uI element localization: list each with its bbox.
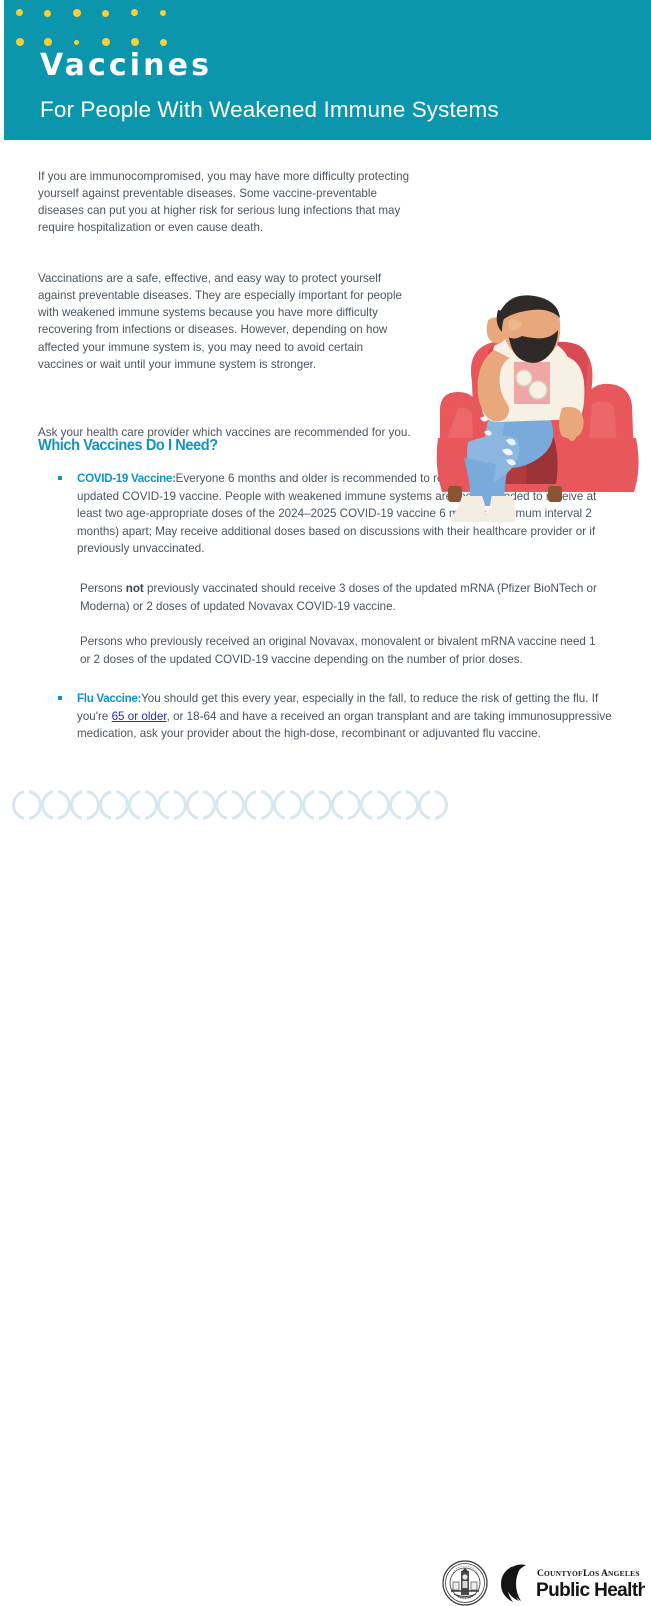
- intro-paragraph-2: Vaccinations are a safe, effective, and …: [38, 270, 410, 374]
- ring-icon: [12, 790, 42, 820]
- svg-text:Public Health: Public Health: [536, 1580, 645, 1601]
- ring-icon: [128, 790, 158, 820]
- diamond-dot-icon: [15, 8, 25, 18]
- sub-text-pre: Persons: [80, 582, 126, 595]
- ring-icon: [331, 790, 361, 820]
- diamond-dot-icon: [42, 36, 53, 47]
- ring-icon: [99, 790, 129, 820]
- square-bullet-icon: [58, 696, 62, 700]
- svg-text:NGELES: NGELES: [608, 1569, 640, 1578]
- ring-icon: [418, 790, 448, 820]
- diamond-dot-icon: [43, 9, 53, 19]
- sub-paragraph-unvaccinated: Persons not previously vaccinated should…: [80, 580, 600, 615]
- ring-icon: [389, 790, 419, 820]
- diamond-dot-icon: [73, 39, 80, 46]
- diamond-dot-icon: [100, 36, 111, 47]
- ring-icon: [215, 790, 245, 820]
- sub-text-prior: Persons who previously received an origi…: [80, 635, 596, 666]
- link-65-or-older[interactable]: 65 or older: [112, 710, 167, 723]
- svg-text:OS: OS: [589, 1569, 599, 1578]
- page-subtitle: For People With Weakened Immune Systems: [40, 99, 499, 122]
- bullet-text-flu: Flu Vaccine:You should get this every ye…: [77, 690, 620, 743]
- diamond-dot-icon: [159, 9, 167, 17]
- bullet-label-covid: COVID-19 Vaccine:: [77, 472, 176, 485]
- diamond-dot-icon: [159, 38, 169, 48]
- page-header-banner: Vaccines For People With Weakened Immune…: [4, 0, 651, 140]
- section-heading-which-vaccines: Which Vaccines Do I Need?: [38, 437, 218, 455]
- ring-icon: [70, 790, 100, 820]
- ring-icon: [302, 790, 332, 820]
- la-county-seal: [442, 1560, 488, 1606]
- ring-icon: [157, 790, 187, 820]
- diamond-dot-icon: [130, 8, 140, 18]
- diamond-dot-icon: [71, 7, 82, 18]
- diamond-dot-icon: [129, 36, 140, 47]
- sub-text-post: previously vaccinated should receive 3 d…: [80, 582, 597, 613]
- public-health-logo: C OUNTY OF L OS A NGELES Public Health: [497, 1563, 645, 1603]
- ring-icon: [186, 790, 216, 820]
- page-title: Vaccines: [40, 51, 212, 81]
- sub-paragraph-prior-doses: Persons who previously received an origi…: [80, 633, 600, 668]
- document-body: If you are immunocompromised, you may ha…: [0, 140, 651, 780]
- bullet-label-flu: Flu Vaccine:: [77, 692, 141, 705]
- square-bullet-icon: [58, 476, 62, 480]
- intro-paragraph-1: If you are immunocompromised, you may ha…: [38, 168, 410, 237]
- diamond-dot-icon: [14, 36, 25, 47]
- ring-icon: [360, 790, 390, 820]
- list-item: Flu Vaccine:You should get this every ye…: [58, 690, 620, 743]
- sub-text-emphasis: not: [126, 582, 144, 595]
- svg-text:OUNTY: OUNTY: [544, 1569, 573, 1578]
- ring-icon: [244, 790, 274, 820]
- diamond-dot-icon: [101, 9, 111, 19]
- illustration-man-in-armchair: [432, 290, 644, 530]
- ring-icon: [41, 790, 71, 820]
- page-footer: C OUNTY OF L OS A NGELES Public Health: [0, 780, 651, 844]
- svg-text:OF: OF: [572, 1569, 583, 1578]
- ring-icon: [273, 790, 303, 820]
- svg-text:A: A: [601, 1568, 608, 1579]
